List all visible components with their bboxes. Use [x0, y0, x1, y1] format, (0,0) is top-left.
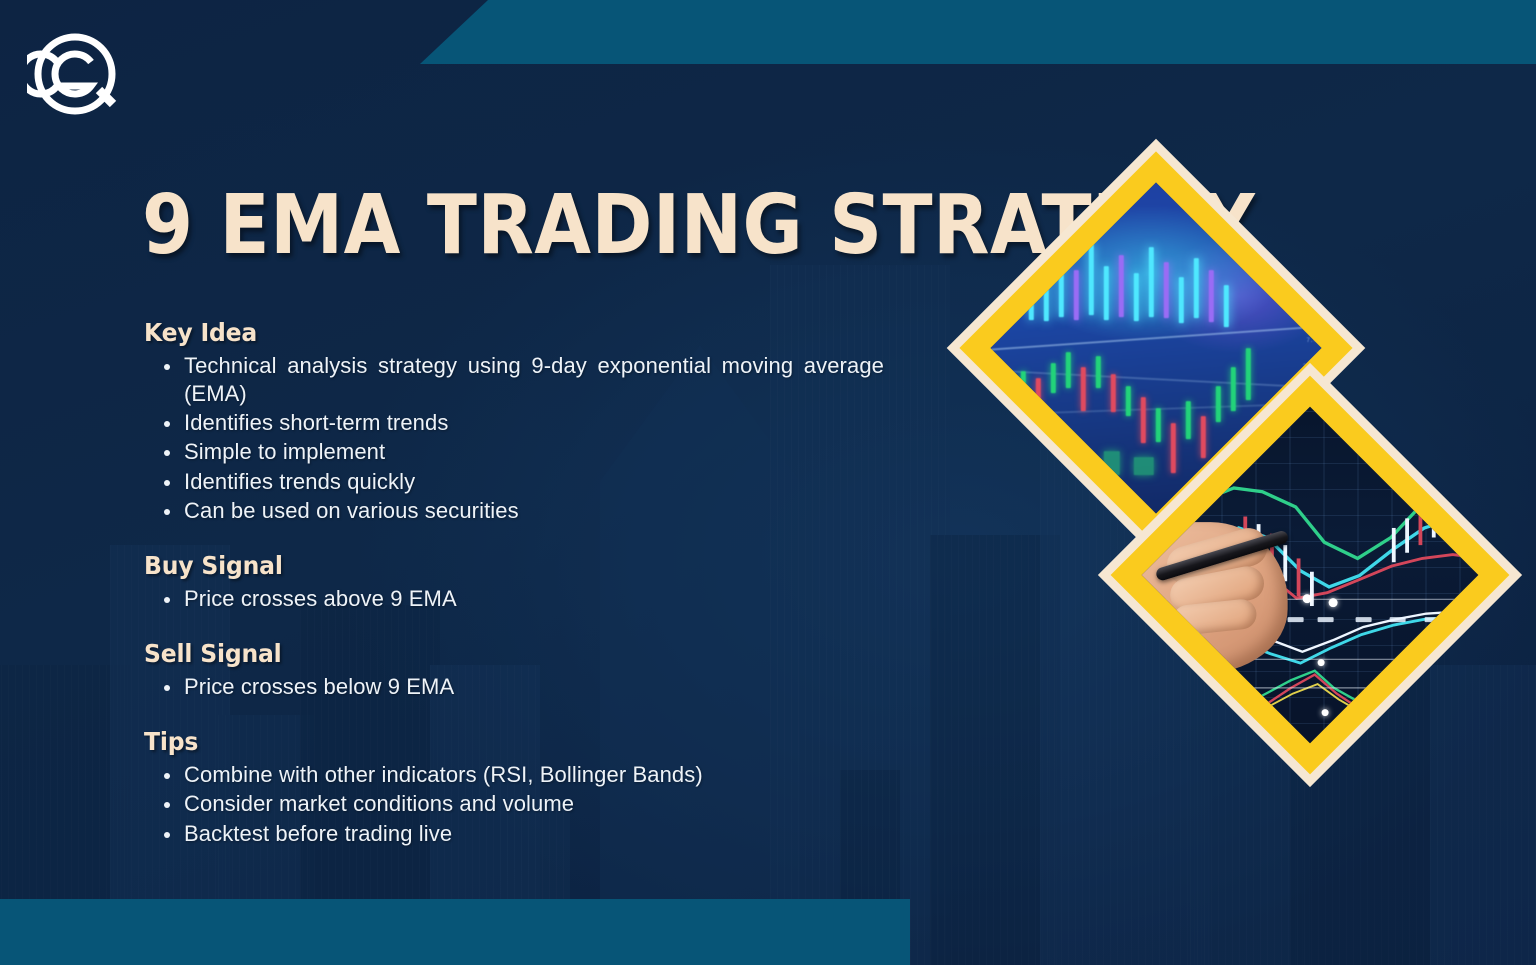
bullet-list-sell-signal: Price crosses below 9 EMA — [144, 673, 904, 701]
list-item: Combine with other indicators (RSI, Boll… — [184, 761, 904, 789]
spacer — [144, 705, 904, 727]
infographic-canvas: 9 EMA TRADING STRATEGY Key Idea Technica… — [0, 0, 1536, 965]
section-heading-sell-signal: Sell Signal — [144, 639, 858, 668]
list-item: Identifies trends quickly — [184, 468, 904, 496]
teal-band-top-right — [420, 0, 1536, 64]
list-item-text: Technical analysis strategy using 9-day … — [184, 353, 884, 406]
teal-band-bottom-left — [0, 899, 910, 965]
list-item: Technical analysis strategy using 9-day … — [184, 352, 884, 408]
section-tips: Tips Combine with other indicators (RSI,… — [144, 727, 904, 847]
bullet-list-key-idea: Technical analysis strategy using 9-day … — [144, 352, 904, 525]
content-column: Key Idea Technical analysis strategy usi… — [144, 318, 904, 852]
list-item: Consider market conditions and volume — [184, 790, 904, 818]
sq-monogram-logo[interactable] — [27, 26, 131, 130]
bullet-list-tips: Combine with other indicators (RSI, Boll… — [144, 761, 904, 847]
list-item: Simple to implement — [184, 438, 904, 466]
section-buy-signal: Buy Signal Price crosses above 9 EMA — [144, 551, 904, 613]
list-item: Identifies short-term trends — [184, 409, 904, 437]
list-item: Can be used on various securities — [184, 497, 904, 525]
list-item: Backtest before trading live — [184, 820, 904, 848]
list-item: Price crosses below 9 EMA — [184, 673, 904, 701]
list-item: Price crosses above 9 EMA — [184, 585, 904, 613]
spacer — [144, 617, 904, 639]
spacer — [144, 529, 904, 551]
section-heading-key-idea: Key Idea — [144, 318, 858, 347]
section-heading-buy-signal: Buy Signal — [144, 551, 858, 580]
bullet-list-buy-signal: Price crosses above 9 EMA — [144, 585, 904, 613]
section-key-idea: Key Idea Technical analysis strategy usi… — [144, 318, 904, 525]
section-heading-tips: Tips — [144, 727, 858, 756]
section-sell-signal: Sell Signal Price crosses below 9 EMA — [144, 639, 904, 701]
